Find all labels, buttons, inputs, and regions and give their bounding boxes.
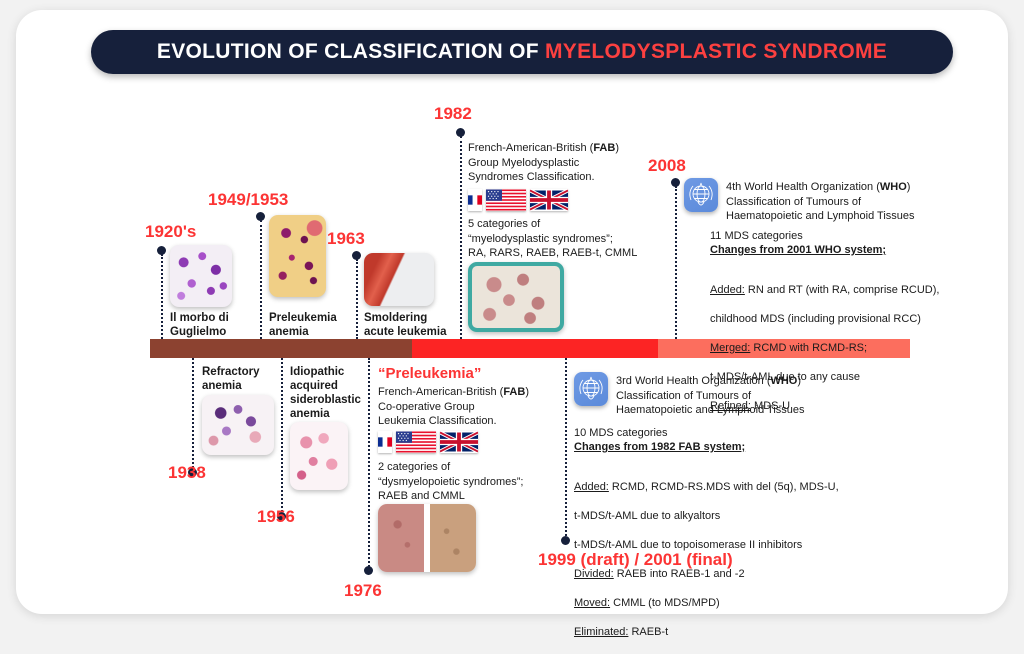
connector-1999-2001 [565,358,567,540]
page-title: EVOLUTION OF CLASSIFICATION OF MYELODYSP… [157,40,887,64]
uk-flag [440,431,478,453]
thumb-skin-lesions-1982 [468,262,564,332]
who-logo-2008 [684,178,718,212]
connector-2008 [675,186,677,339]
timeline-segment-early [150,339,412,358]
connector-1956 [281,358,283,516]
label-1949-1953: Preleukemia anemia [269,311,337,339]
org-2008: 4th World Health Organization (WHO)Class… [726,180,951,224]
thumb-smoldering [364,253,434,306]
thumb-preleukemia [269,215,326,297]
usa-flag [396,431,436,453]
change-line: childhood MDS (including provisional RCC… [710,312,960,327]
connector-1982 [460,136,462,339]
uk-flag [530,189,568,211]
flags-1976 [378,431,478,453]
connector-1938 [192,358,194,472]
connector-1963 [356,259,358,339]
who-logo-2001 [574,372,608,406]
title-main: EVOLUTION OF CLASSIFICATION OF [157,40,545,63]
changes-header-2008: Changes from 2001 WHO system; [710,243,886,258]
categories-2008: 11 MDS categories [710,229,803,244]
title-banner: EVOLUTION OF CLASSIFICATION OF MYELODYSP… [91,30,953,74]
change-line: Merged: RCMD with RCMD-RS; [710,341,960,356]
thumb-idiopathic [290,422,348,490]
label-1963: Smoldering acute leukemia [364,311,446,339]
change-line: t-MDS/t-AML due to alkyaltors [574,509,864,524]
year-1976: 1976 [344,581,382,601]
dot-1999-2001 [561,536,570,545]
connector-1976 [368,358,370,570]
changes-header-2001: Changes from 1982 FAB system; [574,440,745,455]
thumb-skin-lesions-1976 [378,504,476,572]
thumb-guglielmo [170,245,232,307]
year-1963: 1963 [327,229,365,249]
org-2001: 3rd World Health Organization (WHO)Class… [616,374,841,418]
label-1938: Refractory anemia [202,365,260,393]
change-line: Eliminated: RAEB-t [574,625,864,640]
label-1956: Idiopathic acquired sideroblastic anemia [290,365,361,421]
infographic-card: EVOLUTION OF CLASSIFICATION OF MYELODYSP… [16,10,1008,614]
thumb-refractory [202,395,274,455]
year-1938: 1938 [168,463,206,483]
categories-2001: 10 MDS categories [574,426,668,441]
title-highlight: MYELODYSPLASTIC SYNDROME [545,40,887,63]
year-1949-1953: 1949/1953 [208,190,288,210]
change-line: Added: RCMD, RCMD-RS.MDS with del (5q), … [574,480,864,495]
detail-1982: 5 categories of “myelodysplastic syndrom… [468,217,678,261]
year-1999-2001: 1999 (draft) / 2001 (final) [538,550,733,570]
dot-1976 [364,566,373,575]
connector-1949-1953 [260,220,262,339]
year-1982: 1982 [434,104,472,124]
label-1920s: Il morbo di Guglielmo [170,311,229,339]
france-flag [468,189,482,211]
france-flag [378,431,392,453]
usa-flag [486,189,526,211]
heading-1982: French-American-British (FAB)Group Myelo… [468,141,668,185]
change-line: Moved: CMML (to MDS/MPD) [574,596,864,611]
year-2008: 2008 [648,156,686,176]
year-1956: 1956 [257,507,295,527]
connector-1920s [161,254,163,339]
flags-1982 [468,189,568,211]
timeline-segment-fab [412,339,658,358]
heading-1976: French-American-British (FAB)Co-operativ… [378,385,578,429]
title-1976: “Preleukemia” [378,365,481,382]
year-1920s: 1920's [145,222,196,242]
detail-1976: 2 categories of “dysmyelopoietic syndrom… [378,460,578,504]
change-line: Added: RN and RT (with RA, comprise RCUD… [710,283,960,298]
